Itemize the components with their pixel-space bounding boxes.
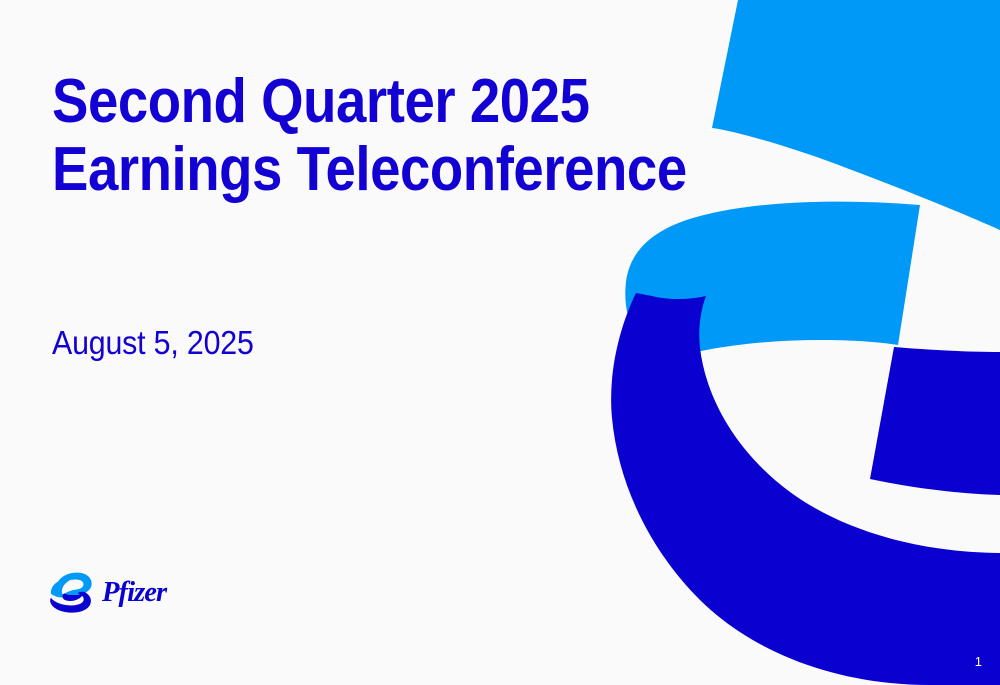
right-deep-blue-panel: [870, 347, 1000, 495]
pfizer-wordmark-text: Pfizer: [102, 577, 168, 608]
page-title-line-1: Second Quarter 2025: [52, 68, 687, 136]
page-number: 1: [975, 655, 982, 668]
pfizer-wordmark: Pfizer: [102, 575, 194, 609]
middle-light-blue-arc: [625, 202, 920, 362]
page-title: Second Quarter 2025 Earnings Teleconfere…: [52, 68, 687, 203]
presentation-date: August 5, 2025: [52, 324, 254, 362]
lower-deep-blue-ribbon: [611, 293, 1000, 685]
slide-root: Second Quarter 2025 Earnings Teleconfere…: [0, 0, 1000, 685]
pfizer-logo: Pfizer: [47, 568, 194, 616]
pfizer-helix-icon: [47, 568, 95, 616]
page-title-line-2: Earnings Teleconference: [52, 136, 687, 204]
title-block: Second Quarter 2025 Earnings Teleconfere…: [52, 68, 773, 203]
